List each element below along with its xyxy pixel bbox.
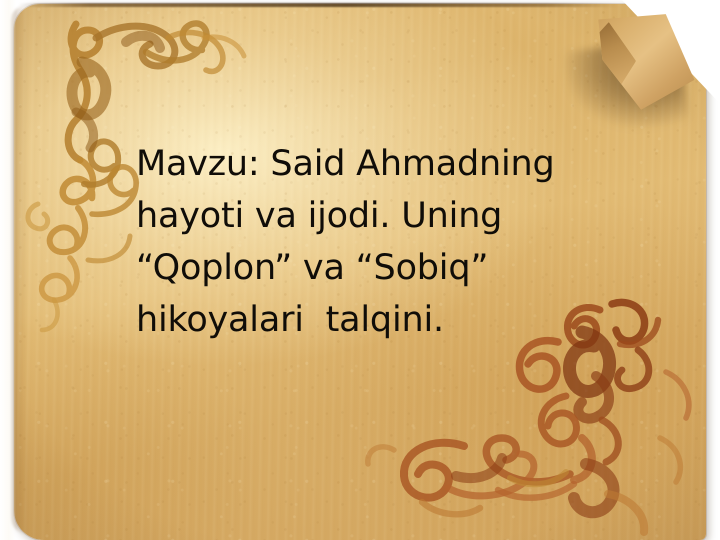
slide-title-block: Mavzu: Said Ahmadning hayoti va ijodi. U…	[136, 138, 684, 346]
left-margin-backdrop	[0, 0, 16, 540]
presentation-slide: Mavzu: Said Ahmadning hayoti va ijodi. U…	[0, 0, 720, 540]
paper-top-edge-shadow	[18, 3, 618, 7]
slide-title-line-3: “Qoplon” va “Sobiq”	[136, 242, 684, 294]
slide-title-line-2: hayoti va ijodi. Uning	[136, 190, 684, 242]
slide-title-line-4: hikoyalari talqini.	[136, 294, 684, 346]
slide-title-line-1: Mavzu: Said Ahmadning	[136, 138, 684, 190]
